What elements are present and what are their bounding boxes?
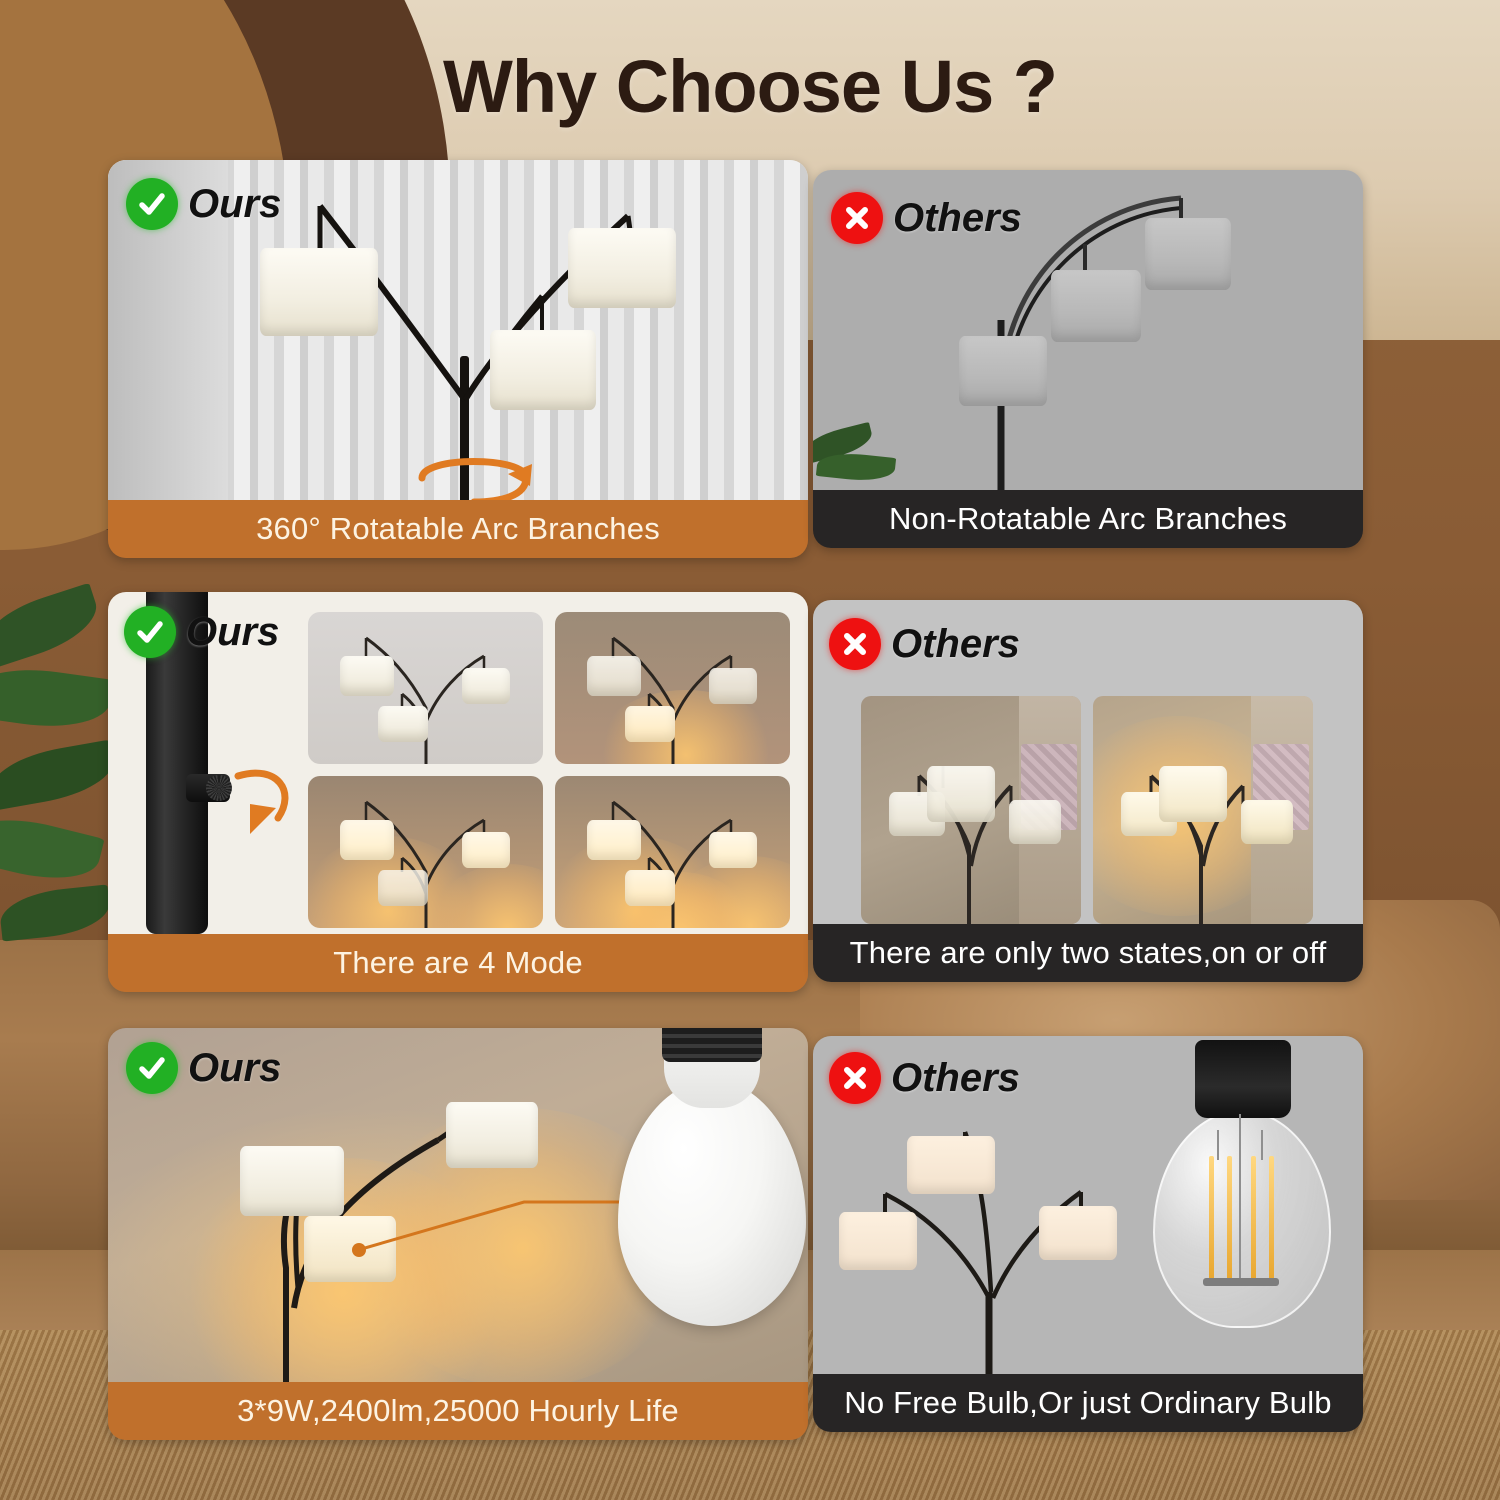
infographic-root: Why Choose Us ? <box>0 0 1500 1500</box>
caption-ours-rotation: 360° Rotatable Arc Branches <box>108 500 808 558</box>
badge-others-modes: Others <box>829 618 1020 670</box>
badge-ours-bulb: Ours <box>126 1042 281 1094</box>
panel-others-bulb: Others No Free Bulb,Or just Ordinary Bul… <box>813 1036 1363 1432</box>
caption-others-bulb: No Free Bulb,Or just Ordinary Bulb <box>813 1374 1363 1432</box>
caption-ours-modes: There are 4 Mode <box>108 934 808 992</box>
check-circle-icon <box>126 1042 178 1094</box>
state-thumbnail <box>861 696 1081 924</box>
others-shade-bottom <box>959 336 1047 406</box>
mode-thumbnail-grid <box>308 612 790 928</box>
knob-rotation-arrow-icon <box>226 756 306 846</box>
page-title: Why Choose Us ? <box>0 44 1500 129</box>
state-thumbnail-grid <box>861 696 1313 924</box>
panel-ours-modes: Ours There are 4 Mode <box>108 592 808 992</box>
badge-ours-modes: Ours <box>124 606 279 658</box>
badge-others-rotation: Others <box>831 192 1022 244</box>
rotation-arrow-icon <box>404 448 544 506</box>
edison-bulb-icon <box>1143 1046 1343 1346</box>
panel-others-modes: Others There are only two states,on or o… <box>813 600 1363 982</box>
caption-others-modes: There are only two states,on or off <box>813 924 1363 982</box>
others-shade-right <box>1039 1206 1117 1260</box>
ours-shade-right <box>446 1102 538 1168</box>
mode-thumbnail <box>555 612 790 764</box>
badge-label-ours: Ours <box>188 1046 281 1091</box>
ours-shade-left <box>240 1146 344 1216</box>
check-circle-icon <box>124 606 176 658</box>
others-plant <box>813 420 913 490</box>
others-shade-mid <box>1051 270 1141 342</box>
badge-label-others: Others <box>891 622 1020 667</box>
caption-ours-bulb: 3*9W,2400lm,25000 Hourly Life <box>108 1382 808 1440</box>
badge-label-others: Others <box>891 1056 1020 1101</box>
mode-thumbnail <box>308 612 543 764</box>
state-thumbnail <box>1093 696 1313 924</box>
x-circle-icon <box>829 1052 881 1104</box>
mode-thumbnail <box>555 776 790 928</box>
led-bulb-icon <box>604 1028 808 1344</box>
panel-ours-bulb: Ours 3*9W,2400lm,25000 Hourly Life <box>108 1028 808 1440</box>
mode-thumbnail <box>308 776 543 928</box>
x-circle-icon <box>829 618 881 670</box>
badge-ours-rotation: Ours <box>126 178 281 230</box>
lamp-shade-center <box>490 330 596 410</box>
panel-ours-rotation: Ours 360° Rotatable Arc Branches <box>108 160 808 558</box>
others-shade-top <box>907 1136 995 1194</box>
panel-others-rotation: Others Non-Rotatable Arc Branches <box>813 170 1363 548</box>
lamp-shade-right <box>568 228 676 308</box>
lamp-shade-left <box>260 248 378 336</box>
others-shade-left <box>839 1212 917 1270</box>
x-circle-icon <box>831 192 883 244</box>
caption-others-rotation: Non-Rotatable Arc Branches <box>813 490 1363 548</box>
badge-label-ours: Ours <box>188 182 281 227</box>
badge-label-ours: Ours <box>186 610 279 655</box>
badge-others-bulb: Others <box>829 1052 1020 1104</box>
check-circle-icon <box>126 178 178 230</box>
badge-label-others: Others <box>893 196 1022 241</box>
others-shade-top <box>1145 218 1231 290</box>
dimmer-knob-icon <box>186 774 230 802</box>
